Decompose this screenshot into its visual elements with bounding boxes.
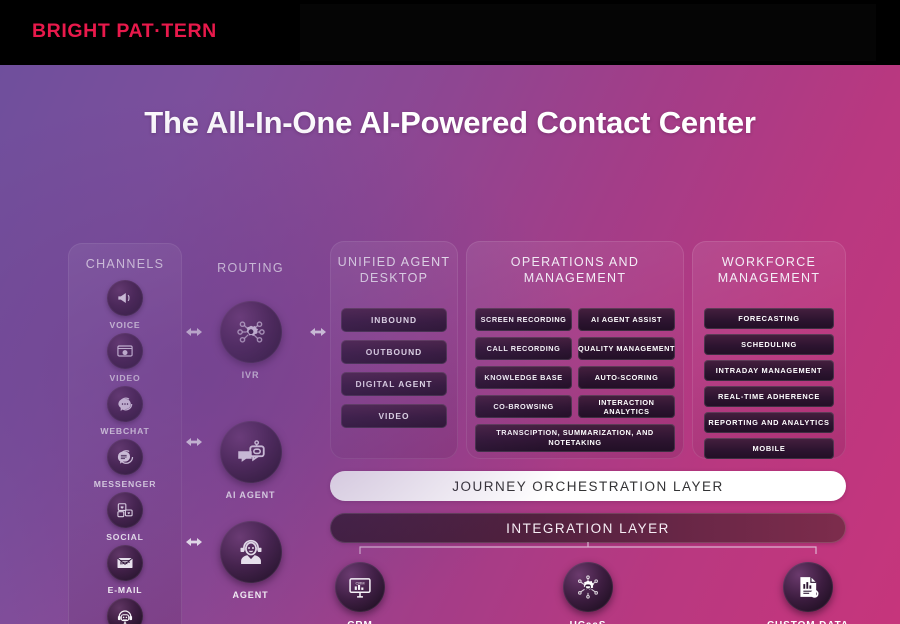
channel-item-ai-agent[interactable]: AI AGENT xyxy=(68,598,182,624)
arrow-channels-to-agent xyxy=(181,535,207,549)
channels-list: VOICEVIDEOWEBCHATMESSENGERSOCIALE-MAILAI… xyxy=(68,280,182,624)
channel-label: VIDEO xyxy=(110,373,141,383)
operations-panel: OPERATIONS AND MANAGEMENT SCREEN RECORDI… xyxy=(466,241,684,459)
arrow-ivr-to-desktop xyxy=(305,325,331,339)
chat-bot-icon xyxy=(220,421,282,483)
channel-item-video[interactable]: VIDEO xyxy=(68,333,182,383)
workforce-list: FORECASTINGSCHEDULINGINTRADAY MANAGEMENT… xyxy=(692,308,846,459)
operations-item-transcription-summarization-notetaking[interactable]: TRANSCIPTION, SUMMARIZATION, AND NOTETAK… xyxy=(475,424,675,452)
integration-item-ucaas[interactable]: UCaaS xyxy=(528,562,648,624)
header-right-panel xyxy=(300,4,876,61)
workforce-item-mobile[interactable]: MOBILE xyxy=(704,438,834,459)
routing-label: AGENT xyxy=(233,590,269,600)
workforce-item-forecasting[interactable]: FORECASTING xyxy=(704,308,834,329)
uad-list: INBOUNDOUTBOUNDDIGITAL AGENTVIDEO xyxy=(330,308,458,428)
channel-label: VOICE xyxy=(110,320,141,330)
operations-item-knowledge-base[interactable]: KNOWLEDGE BASE xyxy=(475,366,572,389)
workforce-title: WORKFORCE MANAGEMENT xyxy=(692,241,846,286)
operations-item-co-browsing[interactable]: CO-BROWSING xyxy=(475,395,572,418)
operations-item-auto-scoring[interactable]: AUTO-SCORING xyxy=(578,366,675,389)
headset-bot-icon xyxy=(107,598,143,624)
crm-monitor-icon: CRM xyxy=(335,562,385,612)
channel-item-webchat[interactable]: WEBCHAT xyxy=(68,386,182,436)
channels-panel: CHANNELS VOICEVIDEOWEBCHATMESSENGERSOCIA… xyxy=(68,243,182,624)
arrow-channels-to-ai-agent xyxy=(181,435,207,449)
routing-label: IVR xyxy=(242,370,260,380)
diagram-canvas: The All-In-One AI-Powered Contact Center… xyxy=(0,65,900,624)
video-icon xyxy=(107,333,143,369)
workforce-item-scheduling[interactable]: SCHEDULING xyxy=(704,334,834,355)
header-bar: BRIGHT PAT·TERN xyxy=(0,0,900,65)
server-network-icon xyxy=(563,562,613,612)
agent-person-icon xyxy=(220,521,282,583)
operations-grid: SCREEN RECORDINGAI AGENT ASSISTCALL RECO… xyxy=(466,308,684,452)
messenger-icon xyxy=(107,439,143,475)
routing-label: AI AGENT xyxy=(226,490,276,500)
envelope-icon xyxy=(107,545,143,581)
integration-layer-bar[interactable]: INTEGRATION LAYER xyxy=(330,513,846,543)
workforce-panel: WORKFORCE MANAGEMENT FORECASTINGSCHEDULI… xyxy=(692,241,846,459)
integration-label: CUSTOM DATA xyxy=(767,620,849,624)
channel-label: MESSENGER xyxy=(94,479,157,489)
channel-label: SOCIAL xyxy=(106,532,144,542)
operations-item-interaction-analytics[interactable]: INTERACTION ANALYTICS xyxy=(578,395,675,418)
channel-item-messenger[interactable]: MESSENGER xyxy=(68,439,182,489)
workforce-item-real-time-adherence[interactable]: REAL-TIME ADHERENCE xyxy=(704,386,834,407)
integration-item-crm[interactable]: CRMCRM xyxy=(300,562,420,624)
integration-label: CRM xyxy=(347,620,372,624)
routing-item-ivr[interactable]: IVR xyxy=(193,301,308,380)
uad-title: UNIFIED AGENT DESKTOP xyxy=(330,241,458,286)
operations-item-ai-agent-assist[interactable]: AI AGENT ASSIST xyxy=(578,308,675,331)
channel-item-e-mail[interactable]: E-MAIL xyxy=(68,545,182,595)
chat-bubble-icon xyxy=(107,386,143,422)
operations-item-call-recording[interactable]: CALL RECORDING xyxy=(475,337,572,360)
brand-logo[interactable]: BRIGHT PAT·TERN xyxy=(32,20,217,43)
channel-label: WEBCHAT xyxy=(100,426,149,436)
megaphone-icon xyxy=(107,280,143,316)
operations-item-screen-recording[interactable]: SCREEN RECORDING xyxy=(475,308,572,331)
gear-network-icon xyxy=(220,301,282,363)
routing-item-ai-agent[interactable]: AI AGENT xyxy=(193,421,308,500)
operations-item-quality-management[interactable]: QUALITY MANAGEMENT xyxy=(578,337,675,360)
routing-item-agent[interactable]: AGENT xyxy=(193,521,308,600)
page-title: The All-In-One AI-Powered Contact Center xyxy=(0,105,900,141)
uad-item-digital-agent[interactable]: DIGITAL AGENT xyxy=(341,372,447,396)
channel-item-social[interactable]: SOCIAL xyxy=(68,492,182,542)
journey-orchestration-layer-bar[interactable]: JOURNEY ORCHESTRATION LAYER xyxy=(330,471,846,501)
uad-item-inbound[interactable]: INBOUND xyxy=(341,308,447,332)
uad-item-outbound[interactable]: OUTBOUND xyxy=(341,340,447,364)
integration-label: UCaaS xyxy=(570,620,607,624)
routing-title: ROUTING xyxy=(193,261,308,275)
channels-title: CHANNELS xyxy=(68,243,182,272)
channel-item-voice[interactable]: VOICE xyxy=(68,280,182,330)
channel-label: E-MAIL xyxy=(108,585,143,595)
infographic-slide: BRIGHT PAT·TERN The All-In-One AI-Powere… xyxy=(0,0,900,624)
uad-item-video[interactable]: VIDEO xyxy=(341,404,447,428)
workforce-item-reporting-and-analytics[interactable]: REPORTING AND ANALYTICS xyxy=(704,412,834,433)
document-chart-icon xyxy=(783,562,833,612)
arrow-channels-to-ivr xyxy=(181,325,207,339)
operations-title: OPERATIONS AND MANAGEMENT xyxy=(466,241,684,286)
integration-item-custom-data[interactable]: CUSTOM DATA xyxy=(748,562,868,624)
unified-agent-desktop-panel: UNIFIED AGENT DESKTOP INBOUNDOUTBOUNDDIG… xyxy=(330,241,458,459)
social-hearts-icon xyxy=(107,492,143,528)
workforce-item-intraday-management[interactable]: INTRADAY MANAGEMENT xyxy=(704,360,834,381)
